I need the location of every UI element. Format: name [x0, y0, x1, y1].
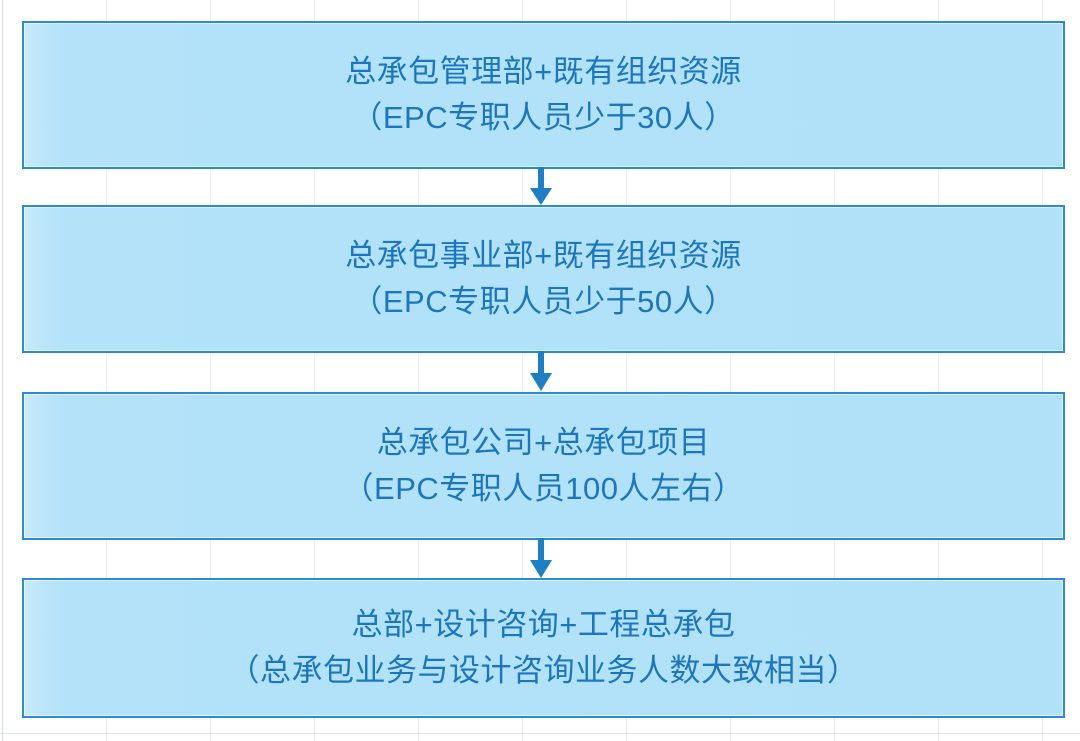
flow-node-level-1-line-2: （EPC专职人员少于30人）: [351, 96, 735, 140]
connector-arrow-level-2-to-level-3: [519, 351, 563, 391]
flow-node-level-3-line-1: 总承包公司+总承包项目: [377, 421, 711, 465]
down-arrow-icon: [519, 351, 563, 393]
flow-node-level-4-line-1: 总部+设计咨询+工程总承包: [352, 603, 736, 647]
background-gridline-vertical-left: [2, 0, 3, 741]
flow-node-level-2[interactable]: 总承包事业部+既有组织资源 （EPC专职人员少于50人）: [22, 205, 1065, 353]
flow-node-level-4[interactable]: 总部+设计咨询+工程总承包 （总承包业务与设计咨询业务人数大致相当）: [22, 578, 1065, 718]
flow-node-level-1[interactable]: 总承包管理部+既有组织资源 （EPC专职人员少于30人）: [22, 21, 1065, 169]
flow-node-level-4-line-2: （总承包业务与设计咨询业务人数大致相当）: [229, 649, 859, 693]
connector-arrow-level-3-to-level-4: [519, 538, 563, 578]
flow-node-level-1-line-1: 总承包管理部+既有组织资源: [345, 50, 742, 94]
background-gridline-horizontal: [0, 733, 1080, 734]
flow-node-level-3[interactable]: 总承包公司+总承包项目 （EPC专职人员100人左右）: [22, 392, 1065, 540]
flow-node-level-3-line-2: （EPC专职人员100人左右）: [343, 467, 745, 511]
down-arrow-icon: [519, 538, 563, 580]
diagram-canvas: 总承包管理部+既有组织资源 （EPC专职人员少于30人） 总承包事业部+既有组织…: [0, 0, 1080, 741]
connector-arrow-level-1-to-level-2: [519, 167, 563, 207]
flow-node-level-2-line-1: 总承包事业部+既有组织资源: [345, 234, 742, 278]
down-arrow-icon: [519, 167, 563, 207]
flow-node-level-2-line-2: （EPC专职人员少于50人）: [351, 280, 735, 324]
